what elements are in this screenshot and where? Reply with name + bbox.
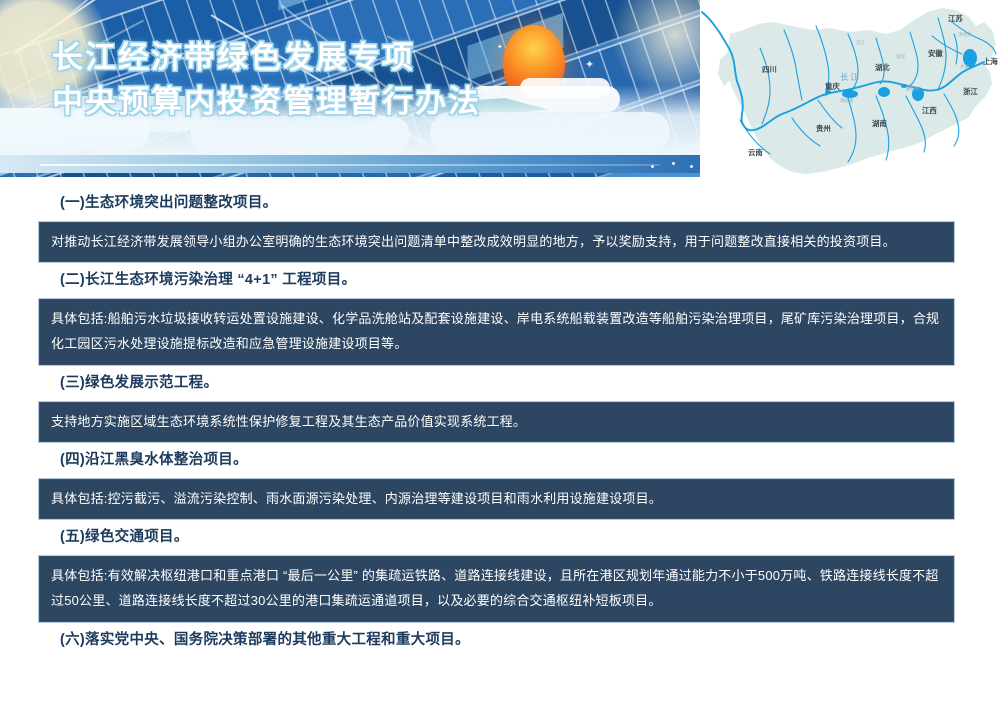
section-4: (四)沿江黑臭水体整治项目。 具体包括:控污截污、溢流污染控制、雨水面源污染处理… (0, 443, 1000, 520)
svg-text:太湖: 太湖 (960, 63, 969, 70)
section-paragraph: 支持地方实施区域生态环境系统性保护修复工程及其生态产品价值实现系统工程。 (38, 401, 955, 443)
svg-text:洞庭湖: 洞庭湖 (840, 97, 854, 104)
section-paragraph: 具体包括:有效解决枢纽港口和重点港口 “最后一公里” 的集疏运铁路、道路连接线建… (38, 555, 955, 623)
water-dot (672, 162, 675, 165)
map-svg: 汉江 淮河 太湖 鄱阳湖 洞庭湖 洪泽湖 长江 四川 云南 贵州 重庆 湖北 湖… (700, 0, 1000, 186)
svg-text:淮河: 淮河 (896, 53, 905, 60)
map-label-zhejiang: 浙江 (963, 87, 978, 96)
water-dot (690, 165, 693, 168)
section-paragraph: 具体包括:船舶污水垃圾接收转运处置设施建设、化学品洗舱站及配套设施建设、岸电系统… (38, 298, 955, 366)
svg-text:鄱阳湖: 鄱阳湖 (906, 85, 920, 92)
map-label-jiangsu: 江苏 (948, 14, 963, 23)
water-highlight-line (40, 164, 660, 166)
section-heading: (二)长江生态环境污染治理 “4+1” 工程项目。 (0, 263, 1000, 298)
map-river-name: 长江 (840, 72, 861, 82)
document-body: (一)生态环境突出问题整改项目。 对推动长江经济带发展领导小组办公室明确的生态环… (0, 186, 1000, 657)
section-paragraph: 对推动长江经济带发展领导小组办公室明确的生态环境突出问题清单中整改成效明显的地方… (38, 221, 955, 263)
map-label-guizhou: 贵州 (816, 124, 831, 133)
section-6: (六)落实党中央、国务院决策部署的其他重大工程和重大项目。 (0, 623, 1000, 658)
section-paragraph: 具体包括:控污截污、溢流污染控制、雨水面源污染处理、内源治理等建设项目和雨水利用… (38, 478, 955, 520)
map-label-shanghai: 上海 (983, 57, 998, 66)
section-5: (五)绿色交通项目。 具体包括:有效解决枢纽港口和重点港口 “最后一公里” 的集… (0, 520, 1000, 623)
map-label-sichuan: 四川 (762, 65, 777, 74)
yangtze-belt-map: 汉江 淮河 太湖 鄱阳湖 洞庭湖 洪泽湖 长江 四川 云南 贵州 重庆 湖北 湖… (700, 0, 1000, 186)
map-label-yunnan: 云南 (748, 148, 763, 157)
section-heading: (四)沿江黑臭水体整治项目。 (0, 443, 1000, 478)
map-label-hunan: 湖南 (872, 119, 887, 128)
section-heading: (一)生态环境突出问题整改项目。 (0, 186, 1000, 221)
banner-title: 长江经济带绿色发展专项 中央预算内投资管理暂行办法 (52, 36, 652, 124)
section-2: (二)长江生态环境污染治理 “4+1” 工程项目。 具体包括:船舶污水垃圾接收转… (0, 263, 1000, 366)
section-heading: (五)绿色交通项目。 (0, 520, 1000, 555)
river-label-changjiang: 长江 (840, 72, 861, 82)
map-label-chongqing: 重庆 (825, 82, 840, 91)
svg-text:洪泽湖: 洪泽湖 (958, 31, 972, 38)
map-label-anhui: 安徽 (928, 49, 943, 58)
svg-text:汉江: 汉江 (856, 39, 865, 46)
section-heading: (六)落实党中央、国务院决策部署的其他重大工程和重大项目。 (0, 623, 1000, 658)
map-label-jiangxi: 江西 (922, 106, 937, 115)
water-dot (651, 165, 654, 168)
map-label-hubei: 湖北 (875, 63, 890, 72)
section-heading: (三)绿色发展示范工程。 (0, 366, 1000, 401)
section-1: (一)生态环境突出问题整改项目。 对推动长江经济带发展领导小组办公室明确的生态环… (0, 186, 1000, 263)
section-3: (三)绿色发展示范工程。 支持地方实施区域生态环境系统性保护修复工程及其生态产品… (0, 366, 1000, 443)
header-banner: ✦ ✦ ✦ ✦ 长江经济带绿色发展专项 中央预算内投资管理暂行办法 (0, 0, 703, 177)
